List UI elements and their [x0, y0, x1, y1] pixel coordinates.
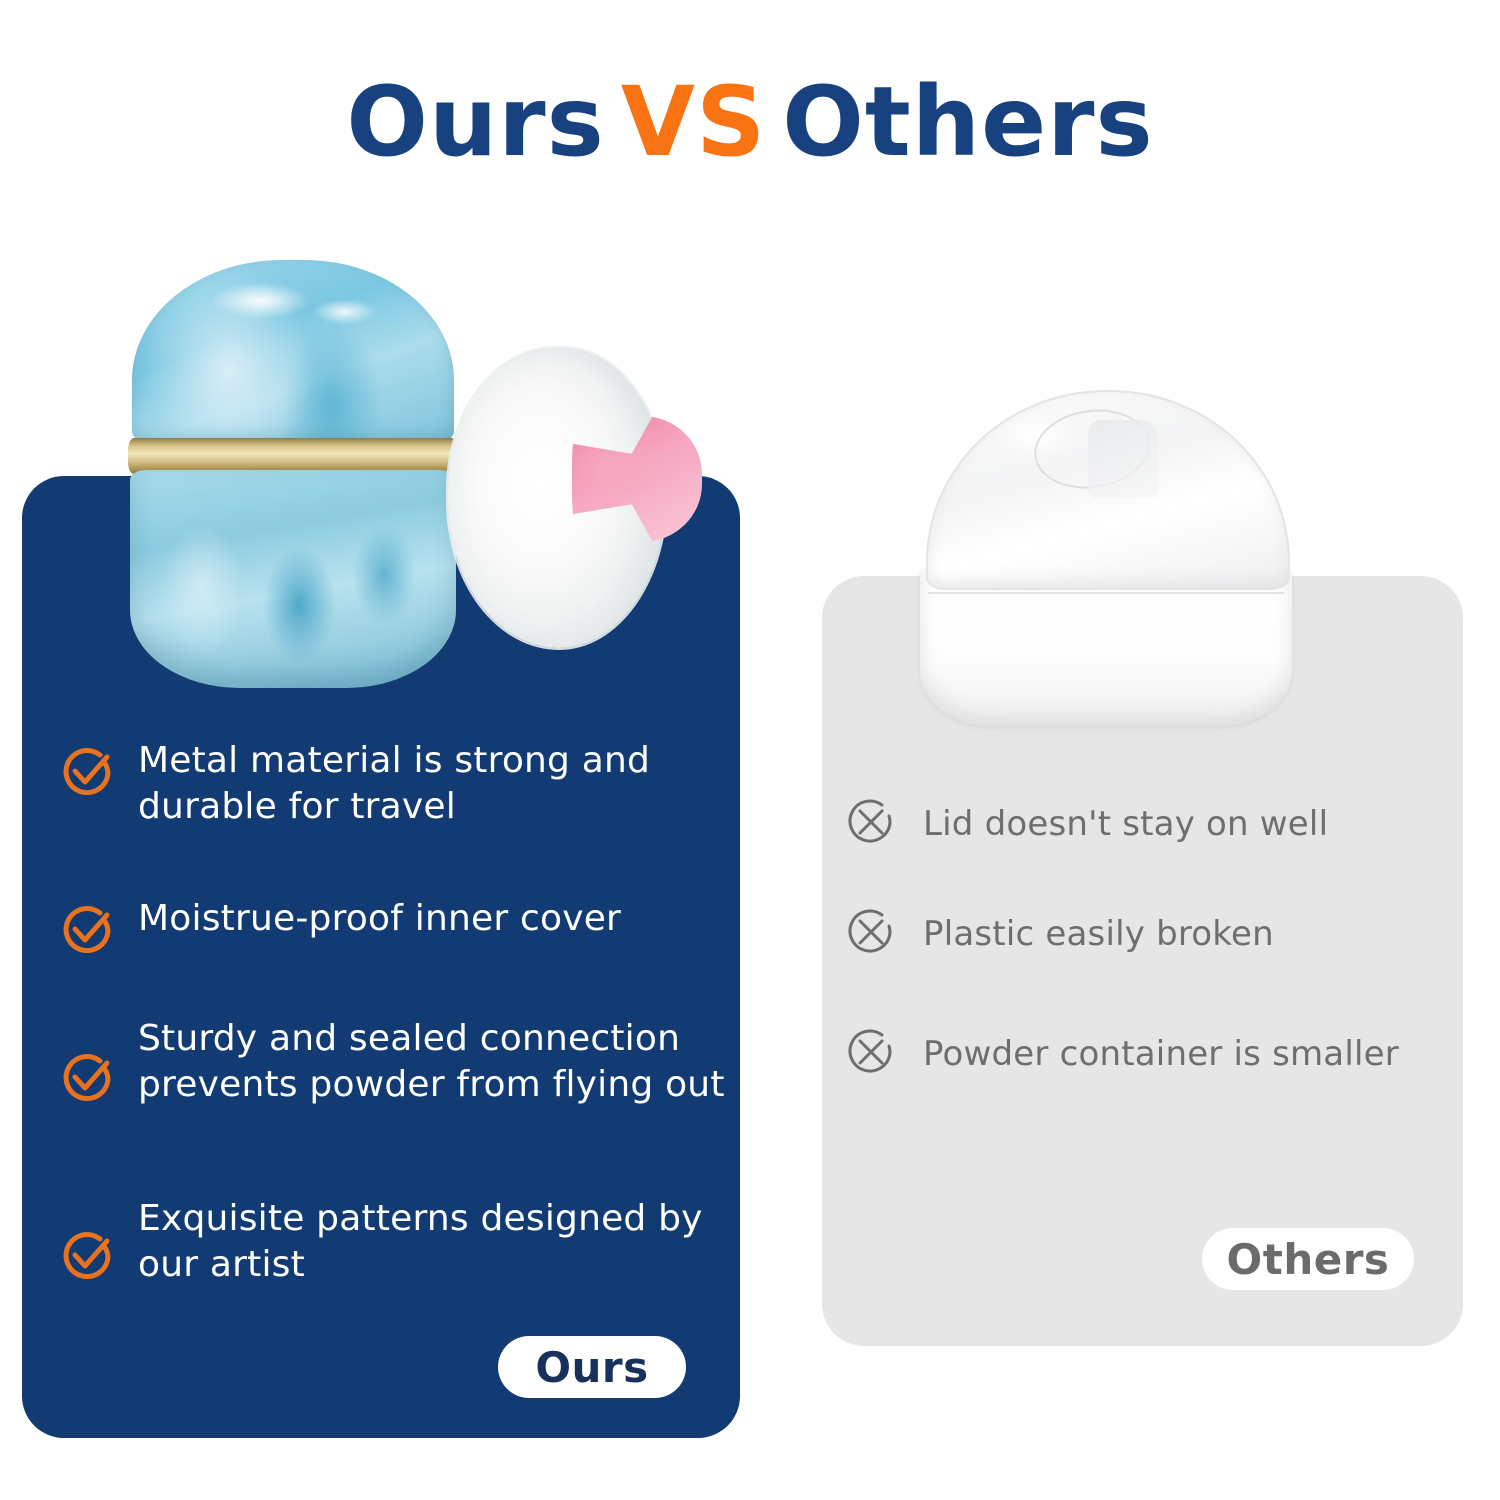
list-item-label: Lid doesn't stay on well	[923, 803, 1328, 846]
others-badge: Others	[1202, 1228, 1414, 1290]
metal-jar-graphic	[128, 260, 458, 680]
plastic-base-graphic	[920, 566, 1292, 726]
jar-lid-graphic	[132, 260, 454, 445]
x-circle-icon	[845, 1026, 897, 1082]
list-item: Plastic easily broken	[845, 906, 1445, 962]
list-item-label: Moistrue-proof inner cover	[138, 896, 621, 942]
list-item: Sturdy and sealed connection prevents po…	[60, 1016, 728, 1108]
others-badge-label: Others	[1227, 1235, 1390, 1284]
list-item-label: Metal material is strong and durable for…	[138, 738, 728, 830]
list-item-label: Sturdy and sealed connection prevents po…	[138, 1016, 728, 1108]
x-circle-icon	[845, 796, 897, 852]
title-ours-word: Ours	[346, 66, 604, 178]
list-item-label: Powder container is smaller	[923, 1033, 1399, 1076]
page-title: OursVSOthers	[0, 72, 1500, 173]
ours-badge: Ours	[498, 1336, 686, 1398]
jar-body-graphic	[130, 470, 456, 688]
plastic-dome-lid-graphic	[926, 390, 1290, 590]
list-item: Lid doesn't stay on well	[845, 796, 1445, 852]
list-item: Powder container is smaller	[845, 1026, 1445, 1082]
comparison-infographic: OursVSOthers Metal m	[0, 0, 1500, 1500]
check-circle-icon	[60, 1226, 116, 1286]
dome-knob-detail	[1088, 420, 1158, 498]
jar-gold-band-graphic	[128, 438, 458, 474]
title-vs-word: VS	[621, 66, 766, 178]
others-product-image	[886, 384, 1326, 740]
title-others-word: Others	[782, 66, 1153, 178]
check-circle-icon	[60, 900, 116, 960]
list-item: Moistrue-proof inner cover	[60, 896, 728, 960]
list-item-label: Plastic easily broken	[923, 913, 1274, 956]
check-circle-icon	[60, 1048, 116, 1108]
list-item: Metal material is strong and durable for…	[60, 738, 728, 830]
ours-product-image	[110, 248, 750, 708]
list-item: Exquisite patterns designed by our artis…	[60, 1196, 728, 1288]
check-circle-icon	[60, 742, 116, 802]
list-item-label: Exquisite patterns designed by our artis…	[138, 1196, 728, 1288]
x-circle-icon	[845, 906, 897, 962]
ours-badge-label: Ours	[535, 1343, 648, 1392]
